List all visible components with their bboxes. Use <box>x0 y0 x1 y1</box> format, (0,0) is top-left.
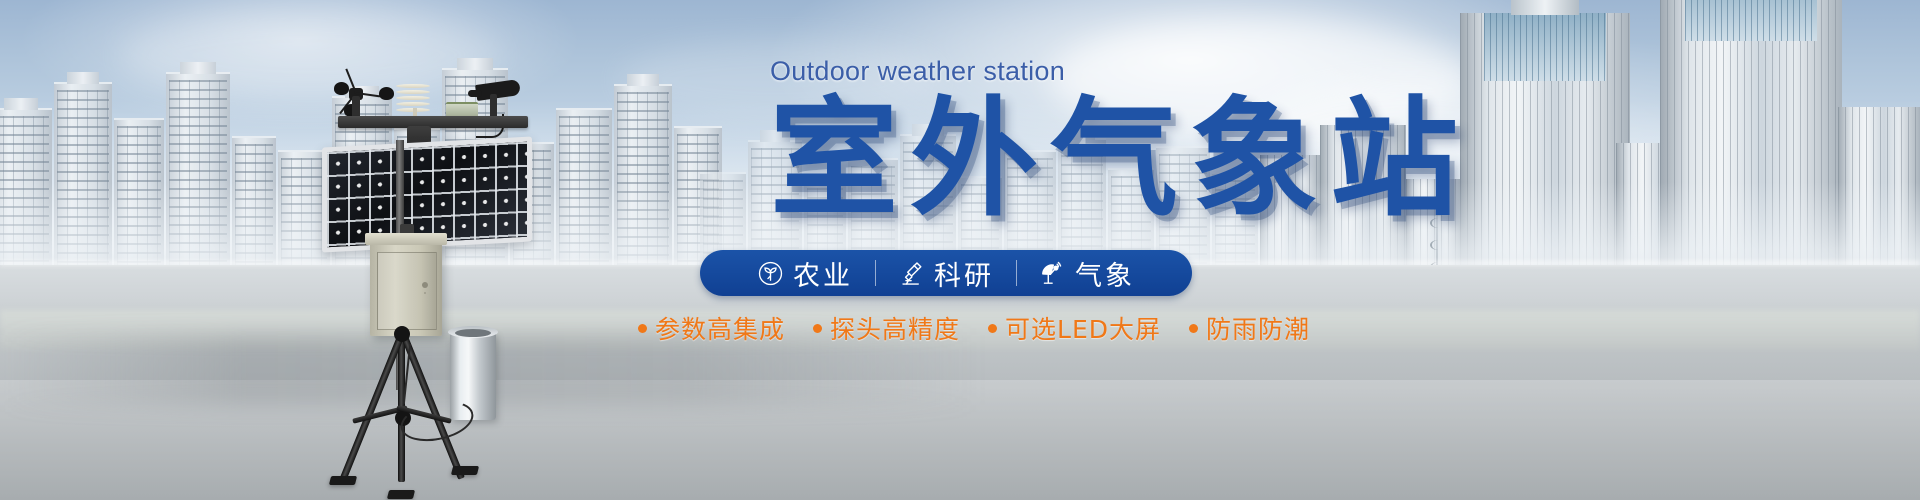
plant-sprout-icon <box>757 260 784 287</box>
weather-station-banner: Outdoor weather station 室外气象站 农业 <box>0 0 1920 500</box>
bullet-dot-icon <box>1189 324 1198 333</box>
badge-item-meteorology[interactable]: 气象 <box>1017 254 1157 293</box>
subtitle: Outdoor weather station <box>770 56 1510 87</box>
badge-label: 科研 <box>934 254 994 293</box>
feature-label: 防雨防潮 <box>1206 310 1310 346</box>
control-enclosure <box>370 240 442 336</box>
radiation-shield <box>396 84 430 110</box>
weather-station-equipment <box>300 80 560 500</box>
feature-label: 参数高集成 <box>655 310 785 346</box>
bullet-dot-icon <box>813 324 822 333</box>
feature-item: 防雨防潮 <box>1189 310 1338 346</box>
feature-item: 参数高集成 <box>638 310 813 346</box>
satellite-dish-icon <box>1039 260 1066 287</box>
building <box>114 118 164 270</box>
building <box>166 72 230 270</box>
application-badge: 农业 科研 <box>700 250 1192 296</box>
building <box>556 108 612 270</box>
feature-item: 可选LED大屏 <box>988 310 1189 346</box>
feature-label: 可选LED大屏 <box>1005 310 1161 346</box>
bullet-dot-icon <box>988 324 997 333</box>
badge-item-research[interactable]: 科研 <box>876 254 1016 293</box>
feature-label: 探头高精度 <box>830 310 960 346</box>
badge-label: 农业 <box>793 254 853 293</box>
bullet-dot-icon <box>638 324 647 333</box>
feature-item: 探头高精度 <box>813 310 988 346</box>
cross-arm <box>338 116 528 128</box>
badge-item-agriculture[interactable]: 农业 <box>735 254 875 293</box>
skyscraper <box>1660 0 1842 275</box>
building <box>1838 107 1920 275</box>
badge-label: 气象 <box>1075 254 1135 293</box>
building <box>232 136 276 270</box>
microscope-icon <box>898 260 925 287</box>
building <box>0 108 52 270</box>
building <box>614 84 672 270</box>
antenna-tuft-icon <box>1430 240 1446 250</box>
building <box>54 82 112 270</box>
feature-list: 参数高集成 探头高精度 可选LED大屏 防雨防潮 <box>638 310 1278 346</box>
page-title: 室外气象站 <box>770 91 1510 229</box>
headline-block: Outdoor weather station 室外气象站 <box>770 56 1510 229</box>
